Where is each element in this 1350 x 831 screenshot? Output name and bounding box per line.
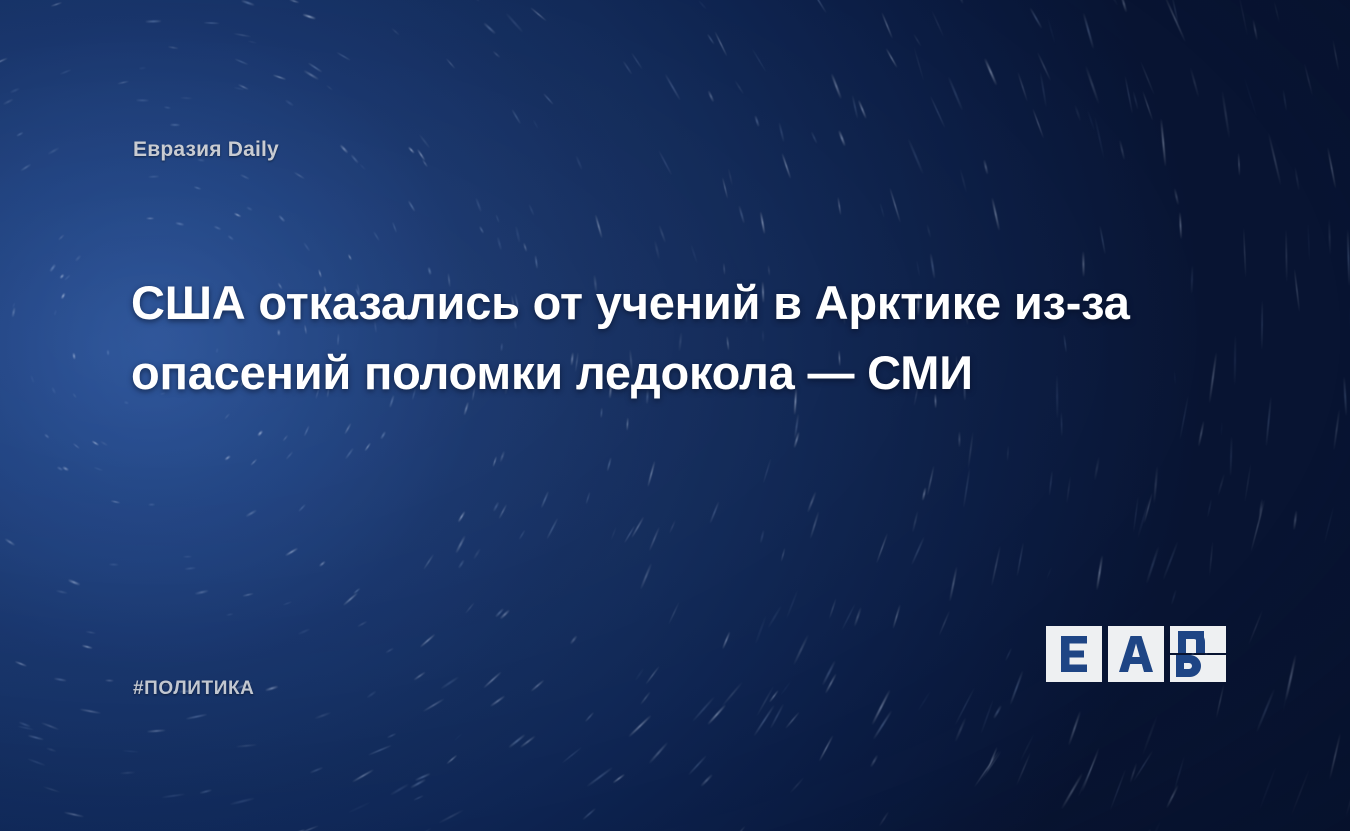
logo-tile-e <box>1046 626 1102 682</box>
page-title: США отказались от учений в Арктике из-за… <box>131 268 1161 407</box>
logo-tile-d-bottom <box>1170 655 1226 682</box>
brand-watermark: Евразия Daily <box>133 138 279 162</box>
eadaily-logo[interactable] <box>1046 626 1226 682</box>
logo-tile-d-top <box>1170 626 1226 653</box>
logo-tile-d <box>1170 626 1226 682</box>
article-share-card: Евразия Daily США отказались от учений в… <box>0 0 1350 831</box>
logo-tile-a <box>1108 626 1164 682</box>
category-tag[interactable]: #ПОЛИТИКА <box>133 678 255 700</box>
card-content: Евразия Daily США отказались от учений в… <box>0 0 1350 831</box>
